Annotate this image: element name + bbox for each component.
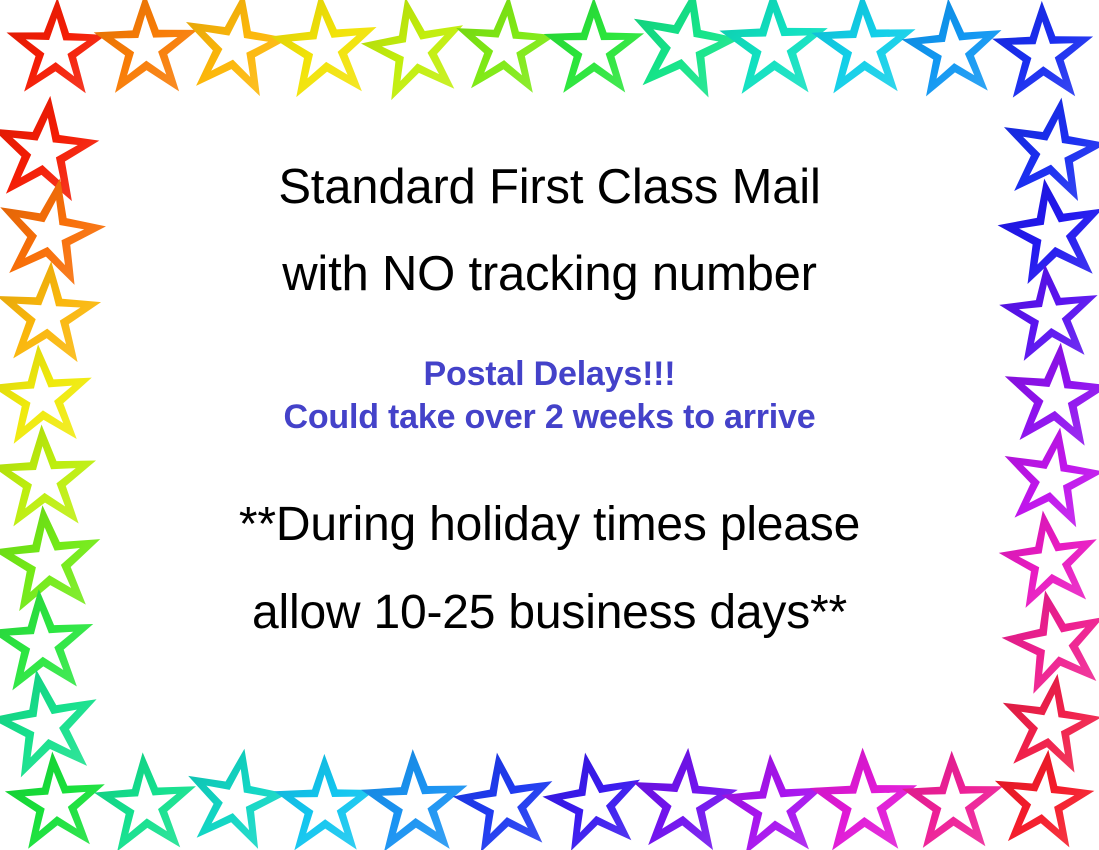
star-icon-right-7 [994,670,1099,782]
alert-line-1: Postal Delays!!! [108,354,991,395]
star-icon-top-10 [897,0,1009,107]
star-icon-left-4 [0,424,100,536]
star-icon-right-3 [1000,342,1099,454]
note-line-1: **During holiday times please [108,501,991,549]
star-icon-top-11 [987,0,1099,110]
star-icon-bottom-4 [359,749,471,850]
star-icon-top-3 [269,0,381,105]
star-icon-left-3 [0,342,98,454]
star-icon-bottom-3 [269,751,381,850]
headline-line-2: with NO tracking number [108,250,991,299]
star-icon-bottom-1 [90,750,202,850]
headline-line-1: Standard First Class Mail [108,163,991,212]
poster-canvas: Standard First Class Mail with NO tracki… [0,0,1099,850]
star-icon-top-2 [179,0,291,103]
star-icon-right-5 [994,506,1099,618]
star-icon-bottom-5 [449,749,561,850]
star-icon-left-5 [0,506,104,618]
star-icon-bottom-7 [628,747,740,850]
star-icon-left-1 [0,178,106,290]
star-icon-bottom-0 [0,748,112,850]
star-icon-left-0 [0,96,100,208]
star-icon-bottom-8 [718,752,830,850]
star-icon-right-6 [1000,588,1099,700]
note-line-2: allow 10-25 business days** [108,589,991,637]
star-icon-top-1 [90,0,202,104]
star-icon-left-7 [0,670,102,782]
star-icon-bottom-11 [987,746,1099,850]
star-icon-top-9 [808,0,920,104]
star-icon-bottom-2 [179,745,291,850]
star-icon-top-7 [628,0,740,102]
star-icon-top-5 [449,0,561,104]
star-icon-right-4 [996,424,1099,536]
star-icon-bottom-6 [538,748,650,850]
star-icon-left-2 [0,260,104,372]
star-icon-right-0 [997,96,1099,208]
star-icon-bottom-9 [808,748,920,850]
message-block: Standard First Class Mail with NO tracki… [108,108,991,742]
star-icon-top-8 [718,0,830,103]
star-icon-top-4 [359,0,471,107]
star-icon-top-0 [0,0,112,106]
star-icon-bottom-10 [897,748,1009,850]
star-icon-right-1 [997,178,1099,290]
star-icon-right-2 [994,260,1099,372]
alert-line-2: Could take over 2 weeks to arrive [108,397,991,438]
star-icon-top-6 [538,0,650,106]
star-icon-left-6 [0,588,98,700]
